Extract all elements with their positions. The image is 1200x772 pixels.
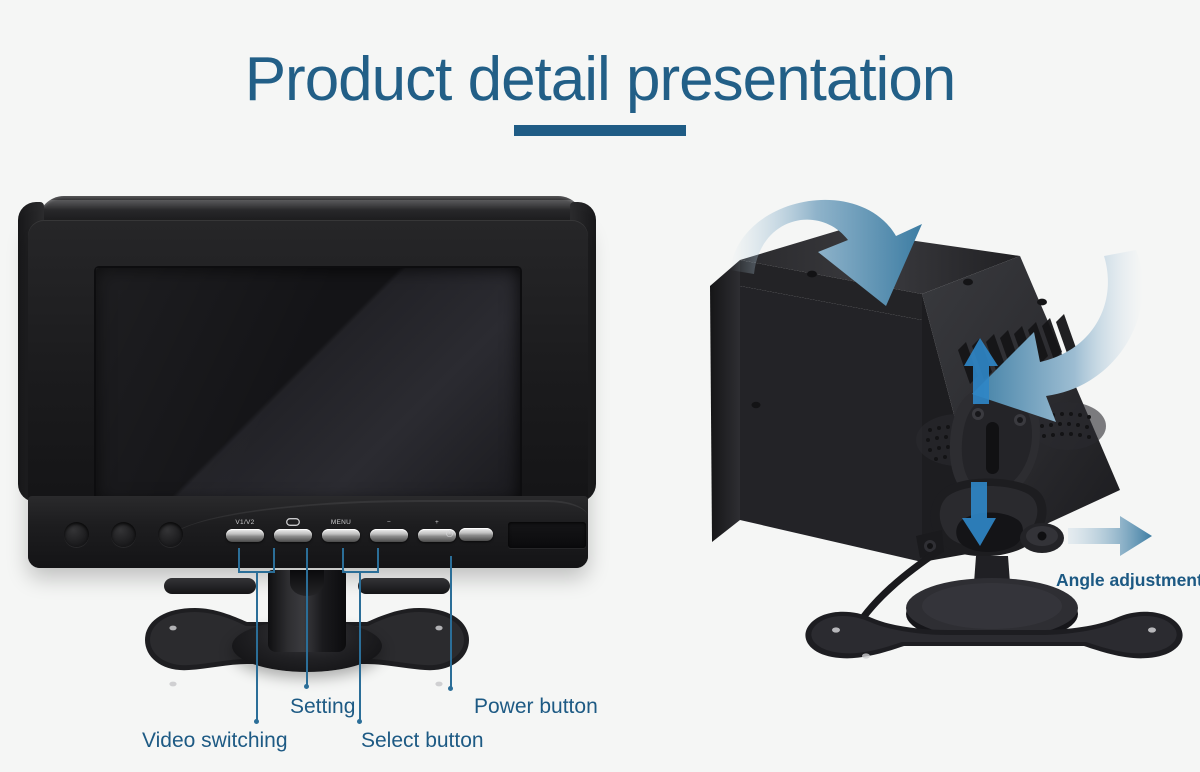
leader-video-a: [238, 548, 240, 572]
product-detail-stage: Product detail presentation V1/V2: [0, 0, 1200, 772]
display-oval-icon: [286, 518, 300, 526]
button-plus-label: +: [435, 519, 439, 526]
control-button-row: V1/V2 MENU − +: [226, 518, 456, 542]
button-v1v2[interactable]: V1/V2: [226, 519, 264, 542]
speaker-hole: [158, 522, 183, 547]
button-minus[interactable]: −: [370, 519, 408, 542]
leader-video-dot: [254, 719, 259, 724]
rear-monitor-drawing: [690, 190, 1190, 700]
leader-power: [450, 556, 452, 688]
button-menu-cap[interactable]: [322, 529, 360, 542]
monitor-front-panel: V1/V2 MENU − +: [28, 496, 588, 568]
angle-right-arrow: [1068, 516, 1152, 556]
button-display[interactable]: [274, 518, 312, 542]
button-display-cap[interactable]: [274, 529, 312, 542]
callout-video-switching: Video switching: [142, 729, 288, 753]
leader-select-a: [342, 548, 344, 572]
rear-monitor-image: Angle adjustment: [690, 190, 1190, 690]
button-minus-cap[interactable]: [370, 529, 408, 542]
leader-setting-dot: [304, 684, 309, 689]
stand-arm-left: [164, 578, 256, 594]
power-icon: ⏻: [446, 530, 453, 539]
power-button-area[interactable]: ⏻: [446, 528, 493, 541]
stand-arm-right: [358, 578, 450, 594]
button-menu[interactable]: MENU: [322, 519, 360, 542]
button-v1v2-cap[interactable]: [226, 529, 264, 542]
ir-receiver-window: [508, 522, 586, 548]
callout-select-button: Select button: [361, 729, 484, 753]
speaker-hole: [64, 522, 89, 547]
leader-setting: [306, 548, 308, 686]
leader-select-b: [377, 548, 379, 572]
leader-select-bar: [342, 571, 379, 573]
button-menu-label: MENU: [331, 519, 351, 526]
leader-select-drop: [359, 571, 361, 721]
speaker-hole-group: [64, 522, 183, 547]
screen-glare: [96, 268, 329, 504]
angle-adjustment-label: Angle adjustment: [1056, 570, 1200, 591]
callout-setting: Setting: [290, 695, 355, 719]
page-title: Product detail presentation: [0, 44, 1200, 115]
leader-power-dot: [448, 686, 453, 691]
callout-power-button: Power button: [474, 695, 598, 719]
button-minus-label: −: [387, 519, 391, 526]
button-v1v2-label: V1/V2: [235, 519, 254, 526]
speaker-hole: [111, 522, 136, 547]
monitor-screen: [96, 268, 520, 504]
leader-video-drop: [256, 571, 258, 721]
power-button-cap[interactable]: [459, 528, 493, 541]
title-underline: [514, 125, 686, 136]
leader-select-dot: [357, 719, 362, 724]
leader-video-b: [273, 548, 275, 572]
front-monitor-image: V1/V2 MENU − +: [22, 196, 592, 576]
